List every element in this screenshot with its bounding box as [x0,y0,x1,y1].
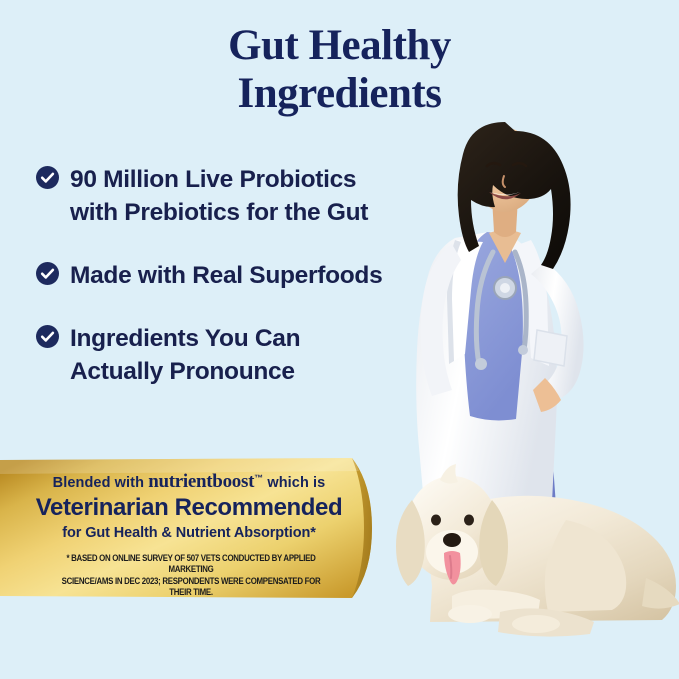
title-line-2: Ingredients [0,70,679,118]
trademark-symbol: ™ [254,473,263,483]
promotional-poster: Gut Healthy Ingredients 90 Million Live … [0,0,679,679]
list-item: Made with Real Superfoods [36,259,456,292]
ribbon-subline: for Gut Health & Nutrient Absorption* [0,524,378,543]
nutrientboost-wordmark: nutrientboost [148,471,254,492]
survey-disclaimer: * BASED ON ONLINE SURVEY OF 507 VETS CON… [56,552,326,598]
benefit-text: 90 Million Live Probiotics with Prebioti… [70,163,368,229]
list-item: 90 Million Live Probiotics with Prebioti… [36,163,456,229]
check-circle-icon [36,262,59,285]
list-item: Ingredients You Can Actually Pronounce [36,322,456,388]
check-circle-icon [36,325,59,348]
check-circle-icon [36,166,59,189]
ribbon-tagline: Blended with nutrientboost™ which is [0,469,378,493]
benefit-text: Made with Real Superfoods [70,259,382,292]
ribbon-tagline-suffix: which is [263,475,325,491]
dog-figure [396,464,679,637]
page-title: Gut Healthy Ingredients [0,22,679,118]
ribbon-text-block: Blended with nutrientboost™ which is Vet… [0,456,378,602]
benefits-list: 90 Million Live Probiotics with Prebioti… [36,163,456,388]
ribbon-headline: Veterinarian Recommended [0,494,378,522]
ribbon-tagline-prefix: Blended with [53,475,149,491]
benefit-text: Ingredients You Can Actually Pronounce [70,322,300,388]
veterinarian-recommended-banner: Blended with nutrientboost™ which is Vet… [0,456,412,602]
title-line-1: Gut Healthy [0,22,679,70]
